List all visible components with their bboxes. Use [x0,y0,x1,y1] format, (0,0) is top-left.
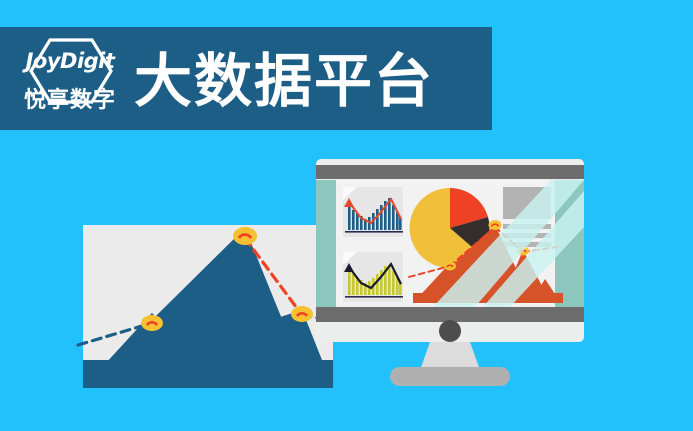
page-title: 大数据平台 [134,51,434,113]
camera-dot-icon [439,320,461,342]
screen-side-strip-left [316,180,336,307]
banner-illustration-canvas: JoyDigit 悦享数字 大数据平台 [0,0,693,431]
monitor-screen [316,180,584,307]
desktop-monitor [305,155,595,395]
bar-chart-yellow [343,252,403,302]
logo-wordmark: JoyDigit [14,47,126,75]
brand-logo: JoyDigit 悦享数字 [14,35,126,121]
header-banner: JoyDigit 悦享数字 大数据平台 [0,27,492,130]
bar-chart-blue [343,187,403,237]
logo-subtitle: 悦享数字 [14,85,126,115]
monitor-stand [390,342,510,386]
